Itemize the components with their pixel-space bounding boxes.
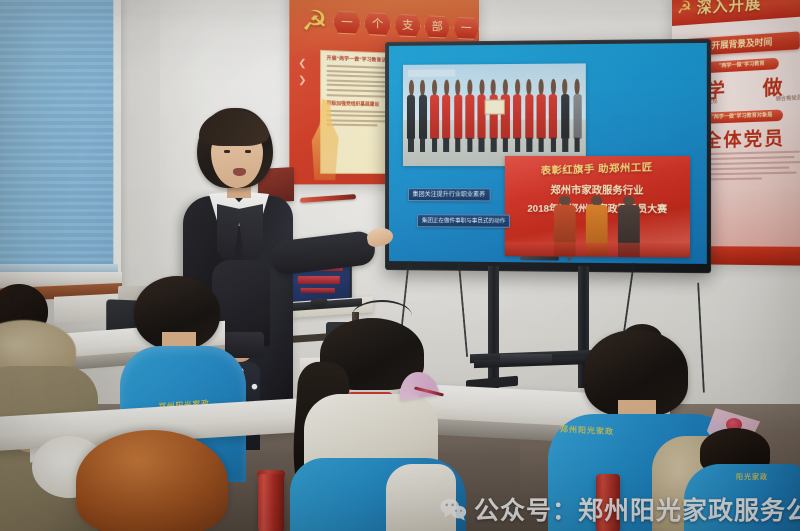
wechat-icon xyxy=(440,498,467,521)
banner-cell: 部 xyxy=(424,15,450,39)
board-right-header: ☭ 深入开展 xyxy=(672,0,800,26)
board-right-pill-upper: "两学一做"学习教育 xyxy=(705,58,778,73)
slide-award-stage-photo: 表彰红旗手 助郑州工匠 郑州市家政服务行业 2018年度郑州市家政服务员大赛 xyxy=(505,156,691,258)
board-right-headline: 深入开展 xyxy=(697,0,762,18)
banner-cell: 支 xyxy=(394,14,421,38)
tv-stand-post-left xyxy=(488,266,499,388)
banner-cell: 一 xyxy=(453,17,479,40)
head-hair xyxy=(76,430,228,531)
slide-group-award-photo xyxy=(403,64,586,167)
red-thermos-front[interactable] xyxy=(258,474,284,531)
window-blind[interactable] xyxy=(0,0,114,268)
banner-cell: 一 xyxy=(333,10,361,34)
slide-bullet-label-1: 集团关注提升行业职业素养 xyxy=(408,188,491,201)
stage-banner-line1: 表彰红旗手 助郑州工匠 xyxy=(508,157,687,178)
photo-scene: ☭ 一 个 支 部 一 个 ❮❯ 开展"两学一做"学习教育活动 积极加强党组织基… xyxy=(0,0,800,531)
media-device[interactable] xyxy=(500,354,552,363)
presenter-mouth xyxy=(233,168,246,176)
slide-bullet-label-2: 集团正在做件事职与事员式的动作 xyxy=(417,214,511,228)
tv-screen[interactable]: 表彰红旗手 助郑州工匠 郑州市家政服务行业 2018年度郑州市家政服务员大赛 集… xyxy=(389,43,707,264)
hammer-sickle-emblem: ☭ xyxy=(677,0,692,19)
audience-ginger-hair-person xyxy=(76,430,236,531)
vest-logo-text: 阳光家政 xyxy=(736,472,768,482)
presenter-eye-right xyxy=(245,150,251,153)
board-right-pill-lower: "两学一做"学习教育对象是 xyxy=(701,109,783,123)
presenter-eye-left xyxy=(224,150,230,153)
watermark: 公众号：郑州阳光家政服务公司 xyxy=(440,491,800,527)
dove-decoration: ❮❯ xyxy=(298,57,306,91)
slide-certificate xyxy=(484,99,504,114)
hammer-sickle-emblem: ☭ xyxy=(298,4,331,37)
sublabel-right: 做合格党员 xyxy=(776,94,800,102)
presentation-display[interactable]: 表彰红旗手 助郑州工匠 郑州市家政服务行业 2018年度郑州市家政服务员大赛 集… xyxy=(385,39,711,274)
tv-ir-sensor xyxy=(567,256,571,260)
banner-cell: 个 xyxy=(364,12,391,36)
watermark-text: 公众号：郑州阳光家政服务公司 xyxy=(474,491,800,527)
presenter-hair-bangs xyxy=(199,110,269,146)
tv-brand-logo xyxy=(520,256,559,260)
